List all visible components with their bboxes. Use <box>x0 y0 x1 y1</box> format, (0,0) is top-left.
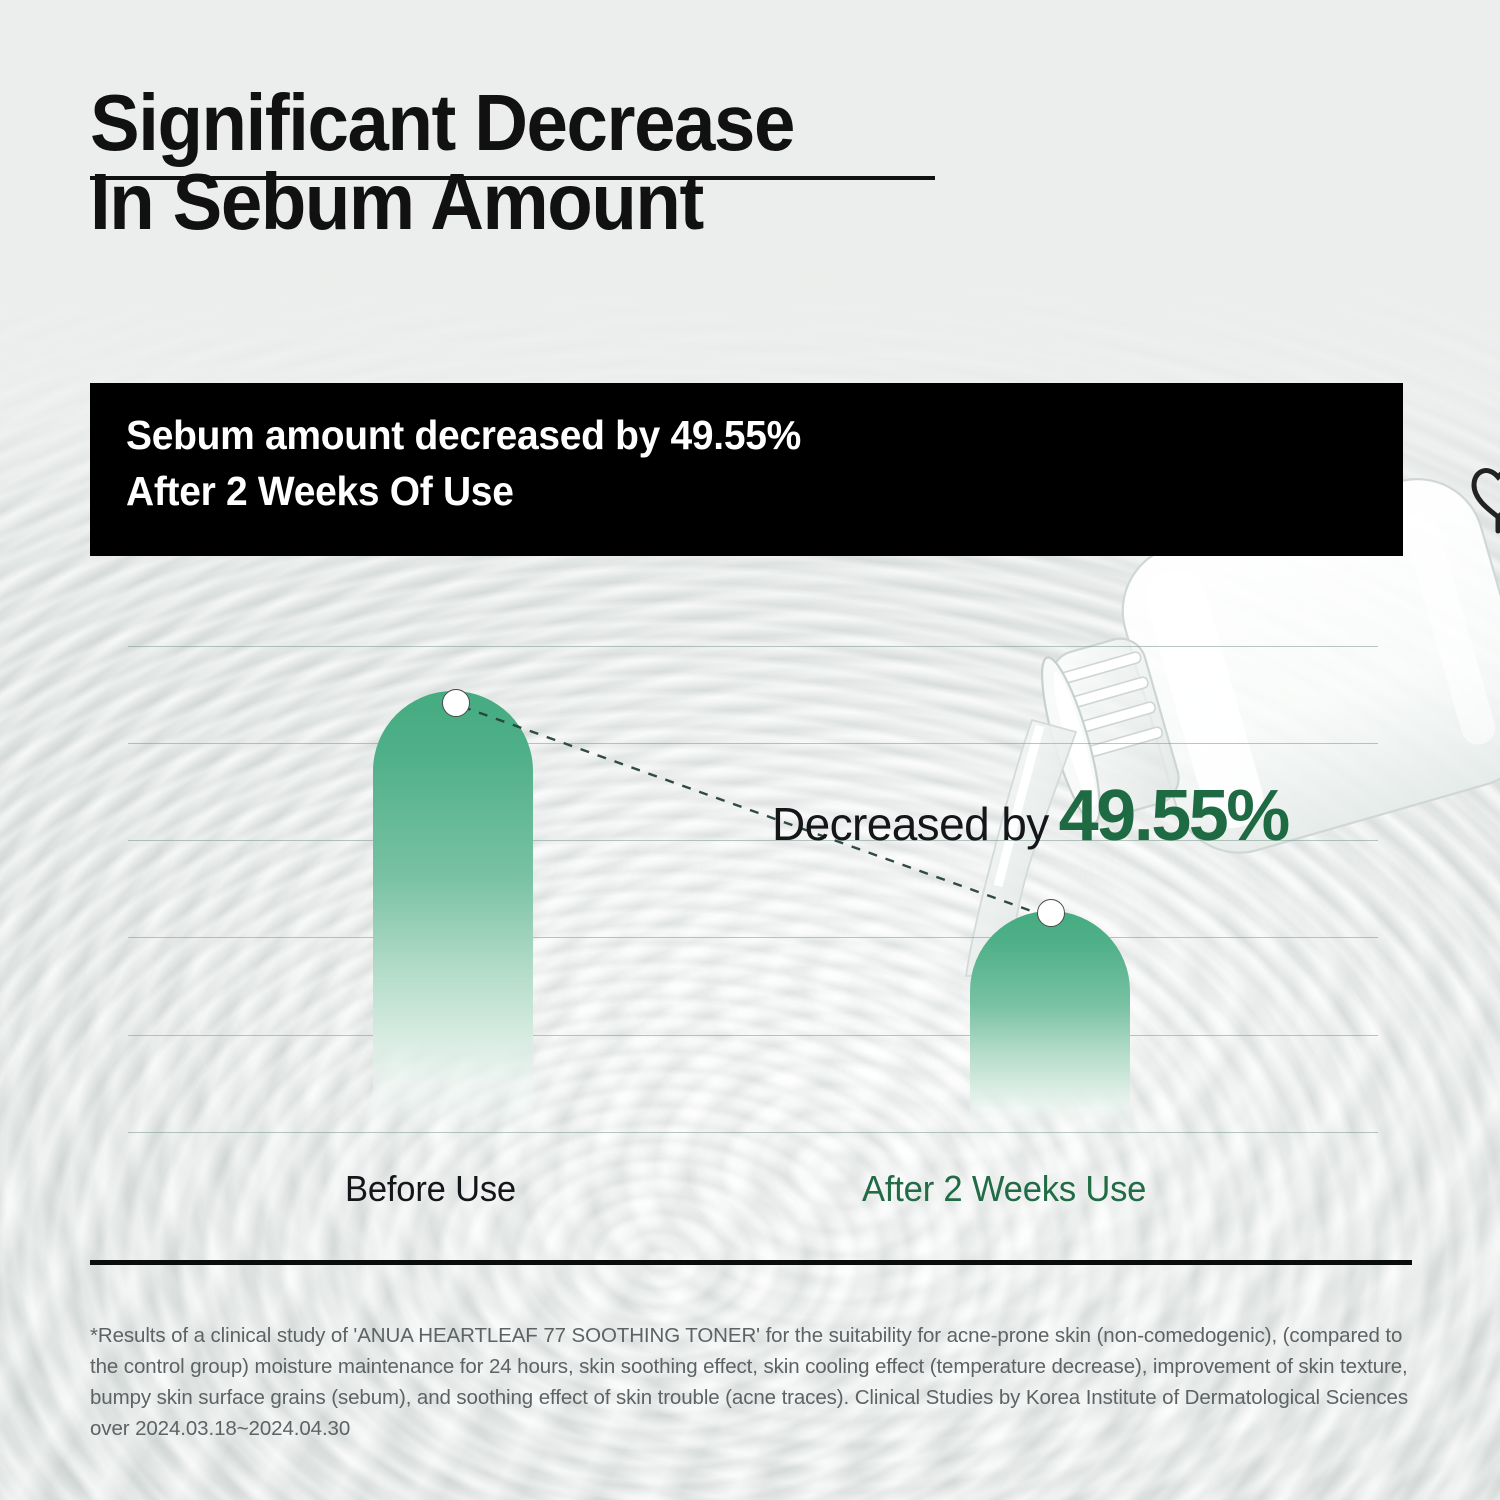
gridline-2 <box>128 743 1378 744</box>
bar-before-use <box>373 691 533 1136</box>
footer-divider <box>90 1260 1412 1265</box>
infographic-root: Significant Decrease In Sebum Amount Seb… <box>0 0 1500 1500</box>
page-title: Significant Decrease In Sebum Amount <box>90 86 1020 238</box>
data-point-before-use <box>442 689 470 717</box>
brand-watermark-icon <box>1468 455 1500 535</box>
gridline-baseline <box>128 1132 1378 1133</box>
gridline-4 <box>128 937 1378 938</box>
banner-line-1: Sebum amount decreased by 49.55% <box>126 412 801 459</box>
gridline-5 <box>128 1035 1378 1036</box>
page-title-line2: In Sebum Amount <box>90 157 703 246</box>
bar-before-use-fill <box>373 691 533 1136</box>
category-label-after-2-weeks: After 2 Weeks Use <box>862 1168 1146 1210</box>
decrease-callout-prefix: Decreased by <box>772 798 1049 850</box>
footnote-text: *Results of a clinical study of 'ANUA HE… <box>90 1320 1420 1444</box>
bar-after-2-weeks-fill <box>970 911 1130 1136</box>
page-title-line1: Significant Decrease <box>90 86 794 165</box>
banner-line-2: After 2 Weeks Of Use <box>126 468 514 515</box>
category-label-before-use: Before Use <box>345 1168 516 1210</box>
title-underline <box>90 176 935 180</box>
bar-after-2-weeks <box>970 911 1130 1136</box>
gridline-1 <box>128 646 1378 647</box>
decrease-callout: Decreased by49.55% <box>772 775 1288 857</box>
decrease-callout-value: 49.55% <box>1059 776 1288 856</box>
highlight-banner: Sebum amount decreased by 49.55% After 2… <box>90 383 1403 556</box>
